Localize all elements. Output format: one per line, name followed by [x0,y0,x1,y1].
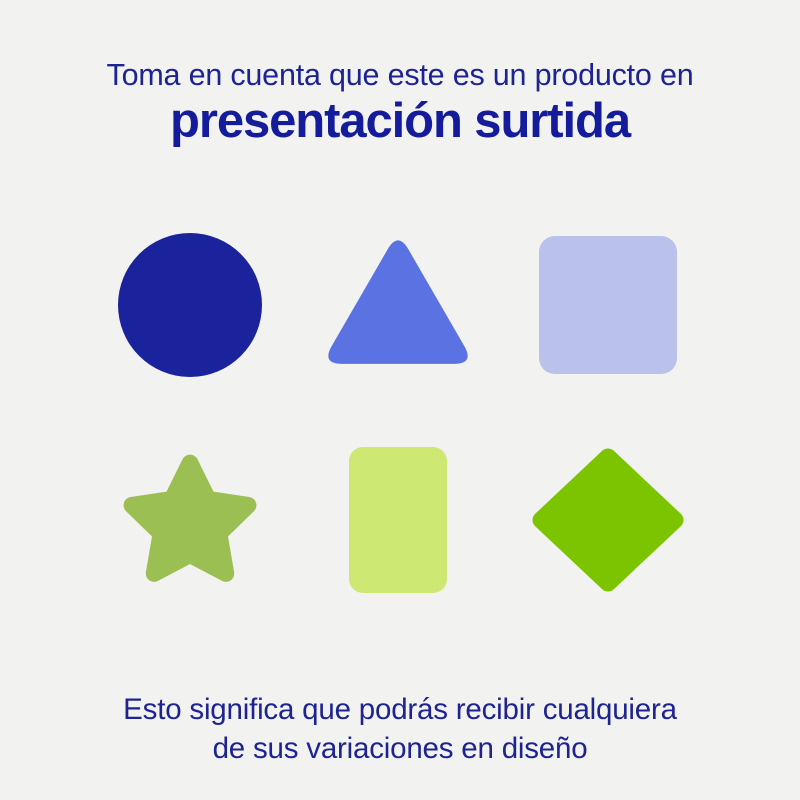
triangle-icon [320,234,476,376]
shape-rect [306,437,490,602]
headline-block: Toma en cuenta que este es un producto e… [0,58,800,149]
shape-square [516,225,700,385]
rounded-rect-icon [349,447,447,593]
shape-diamond [516,437,700,602]
shape-star [98,437,282,602]
shapes-grid [0,225,800,625]
headline-line-1: Toma en cuenta que este es un producto e… [0,58,800,92]
circle-icon [117,232,263,378]
promo-poster: Toma en cuenta que este es un producto e… [0,0,800,800]
footer-block: Esto significa que podrás recibir cualqu… [0,690,800,768]
shape-triangle [306,225,490,385]
footer-line-2: de sus variaciones en diseño [0,729,800,768]
star-icon [114,444,266,596]
diamond-icon [528,443,688,597]
headline-line-2: presentación surtida [0,94,800,149]
square-icon [539,236,677,374]
footer-line-1: Esto significa que podrás recibir cualqu… [0,690,800,729]
shape-circle [98,225,282,385]
